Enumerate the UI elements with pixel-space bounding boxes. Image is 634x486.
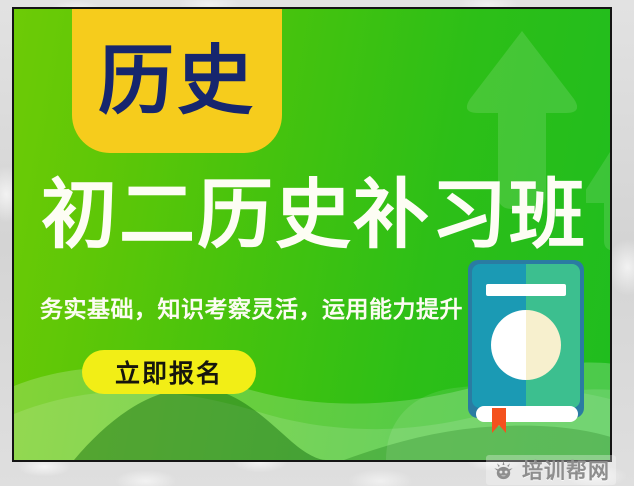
subject-badge-label: 历史 — [98, 43, 256, 119]
site-watermark: 培训帮网 — [486, 455, 616, 485]
sun-face-icon — [492, 459, 515, 482]
enroll-now-button[interactable]: 立即报名 — [82, 350, 256, 394]
site-watermark-text: 培训帮网 — [522, 455, 610, 485]
page-title: 初二历史补习班 — [28, 177, 600, 253]
enroll-now-button-label: 立即报名 — [115, 354, 223, 390]
banner-subtitle: 务实基础，知识考察灵活，运用能力提升 — [40, 290, 463, 324]
book-illustration-icon — [466, 258, 586, 433]
subject-badge: 历史 — [72, 7, 282, 153]
course-promo-banner: 历史 初二历史补习班 务实基础，知识考察灵活，运用能力提升 立即报名 — [12, 7, 612, 462]
